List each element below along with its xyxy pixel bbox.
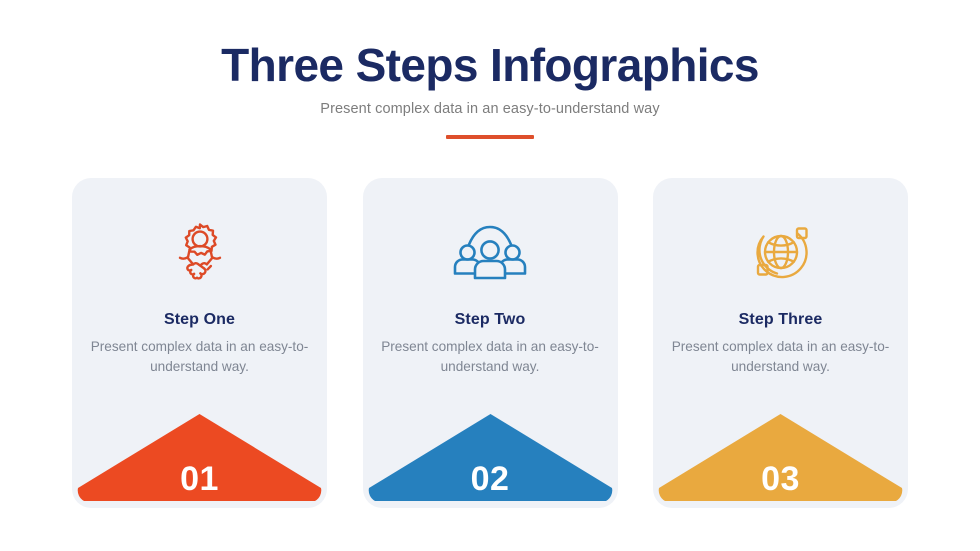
page-header: Three Steps Infographics Present complex… (0, 0, 980, 139)
step-card-body: Present complex data in an easy-to-under… (381, 337, 600, 377)
page-title: Three Steps Infographics (0, 40, 980, 92)
step-number: 01 (72, 462, 327, 496)
step-card-three[interactable]: Step Three Present complex data in an ea… (653, 178, 908, 508)
people-group-icon (363, 216, 618, 288)
steps-card-row: Step One Present complex data in an easy… (72, 178, 908, 508)
step-card-heading: Step Two (363, 311, 618, 329)
step-card-two[interactable]: Step Two Present complex data in an easy… (363, 178, 618, 508)
step-number-banner: 03 (653, 414, 908, 508)
handshake-gear-icon (72, 216, 327, 288)
step-card-heading: Step One (72, 311, 327, 329)
step-card-body: Present complex data in an easy-to-under… (671, 337, 890, 377)
step-card-one[interactable]: Step One Present complex data in an easy… (72, 178, 327, 508)
globe-network-icon (653, 216, 908, 288)
step-number: 02 (363, 462, 618, 496)
accent-divider (446, 135, 534, 139)
step-card-body: Present complex data in an easy-to-under… (90, 337, 309, 377)
page-subtitle: Present complex data in an easy-to-under… (0, 101, 980, 117)
step-number-banner: 01 (72, 414, 327, 508)
step-number-banner: 02 (363, 414, 618, 508)
step-number: 03 (653, 462, 908, 496)
step-card-heading: Step Three (653, 311, 908, 329)
